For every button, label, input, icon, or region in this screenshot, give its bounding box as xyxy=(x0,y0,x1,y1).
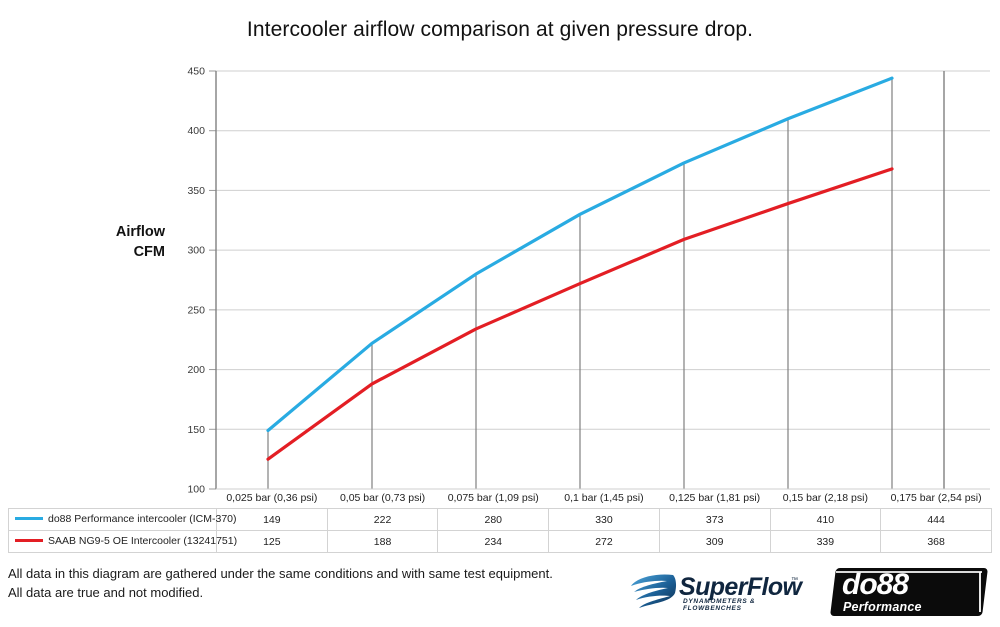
y-tick-label: 250 xyxy=(187,304,205,316)
data-cell: 339 xyxy=(770,531,881,553)
superflow-logo: SuperFlow ™ DYNAMOMETERS & FLOWBENCHES xyxy=(627,571,802,613)
superflow-tagline: DYNAMOMETERS & FLOWBENCHES xyxy=(683,598,802,612)
superflow-trademark: ™ xyxy=(791,577,798,584)
data-cell: 444 xyxy=(881,509,992,531)
y-tick-label: 400 xyxy=(187,125,205,137)
category-label-4: 0,125 bar (1,81 psi) xyxy=(659,488,770,509)
footer-disclaimer: All data in this diagram are gathered un… xyxy=(8,564,628,602)
superflow-wordmark: SuperFlow xyxy=(679,574,801,600)
y-tick-label: 200 xyxy=(187,364,205,376)
data-cell: 280 xyxy=(438,509,549,531)
do88-logo: do88 Performance xyxy=(830,568,988,616)
data-cell: 410 xyxy=(770,509,881,531)
table-corner-cell xyxy=(9,488,217,509)
superflow-swoosh-icon xyxy=(627,571,677,611)
category-label-6: 0,175 bar (2,54 psi) xyxy=(881,488,992,509)
footer-line-2: All data are true and not modified. xyxy=(8,583,628,602)
gridlines-group xyxy=(209,71,990,489)
legend-label-1: SAAB NG9-5 OE Intercooler (13241751) xyxy=(48,536,237,548)
legend-item-1[interactable]: SAAB NG9-5 OE Intercooler (13241751) xyxy=(9,531,217,553)
y-tick-label: 300 xyxy=(187,245,205,257)
data-cell: 272 xyxy=(549,531,660,553)
footer-line-1: All data in this diagram are gathered un… xyxy=(8,564,628,583)
y-axis-title-line2: CFM xyxy=(134,244,165,260)
legend-swatch-1 xyxy=(15,539,43,542)
data-cell: 373 xyxy=(659,509,770,531)
data-cell: 188 xyxy=(327,531,438,553)
y-tick-labels-group: 100150200250300350400450 xyxy=(187,66,205,496)
legend-swatch-0 xyxy=(15,517,43,520)
do88-right-edge xyxy=(979,572,981,612)
chart-canvas: 100150200250300350400450 Airflow CFM xyxy=(0,0,1000,560)
data-cell: 330 xyxy=(549,509,660,531)
data-cell: 234 xyxy=(438,531,549,553)
y-tick-label: 350 xyxy=(187,185,205,197)
table-row: do88 Performance intercooler (ICM-370)14… xyxy=(9,509,992,531)
data-cell: 222 xyxy=(327,509,438,531)
table-header-row: 0,025 bar (0,36 psi)0,05 bar (0,73 psi)0… xyxy=(9,488,992,509)
legend-item-0[interactable]: do88 Performance intercooler (ICM-370) xyxy=(9,509,217,531)
data-cell: 368 xyxy=(881,531,992,553)
category-label-2: 0,075 bar (1,09 psi) xyxy=(438,488,549,509)
do88-tagline: Performance xyxy=(843,600,922,614)
category-label-3: 0,1 bar (1,45 psi) xyxy=(549,488,660,509)
chart-page: Intercooler airflow comparison at given … xyxy=(0,0,1000,627)
y-tick-label: 150 xyxy=(187,424,205,436)
category-label-1: 0,05 bar (0,73 psi) xyxy=(327,488,438,509)
category-label-0: 0,025 bar (0,36 psi) xyxy=(217,488,328,509)
legend-label-0: do88 Performance intercooler (ICM-370) xyxy=(48,514,237,526)
axis-lines-group xyxy=(216,71,990,489)
data-cell: 309 xyxy=(659,531,770,553)
do88-logo-inner: do88 Performance xyxy=(833,568,985,616)
category-label-5: 0,15 bar (2,18 psi) xyxy=(770,488,881,509)
y-tick-label: 450 xyxy=(187,66,205,78)
table-row: SAAB NG9-5 OE Intercooler (13241751)1251… xyxy=(9,531,992,553)
y-axis-title-line1: Airflow xyxy=(116,224,166,240)
data-table: 0,025 bar (0,36 psi)0,05 bar (0,73 psi)0… xyxy=(8,488,992,553)
do88-wordmark: do88 xyxy=(842,569,908,600)
line-chart-svg: 100150200250300350400450 Airflow CFM xyxy=(0,0,1000,560)
